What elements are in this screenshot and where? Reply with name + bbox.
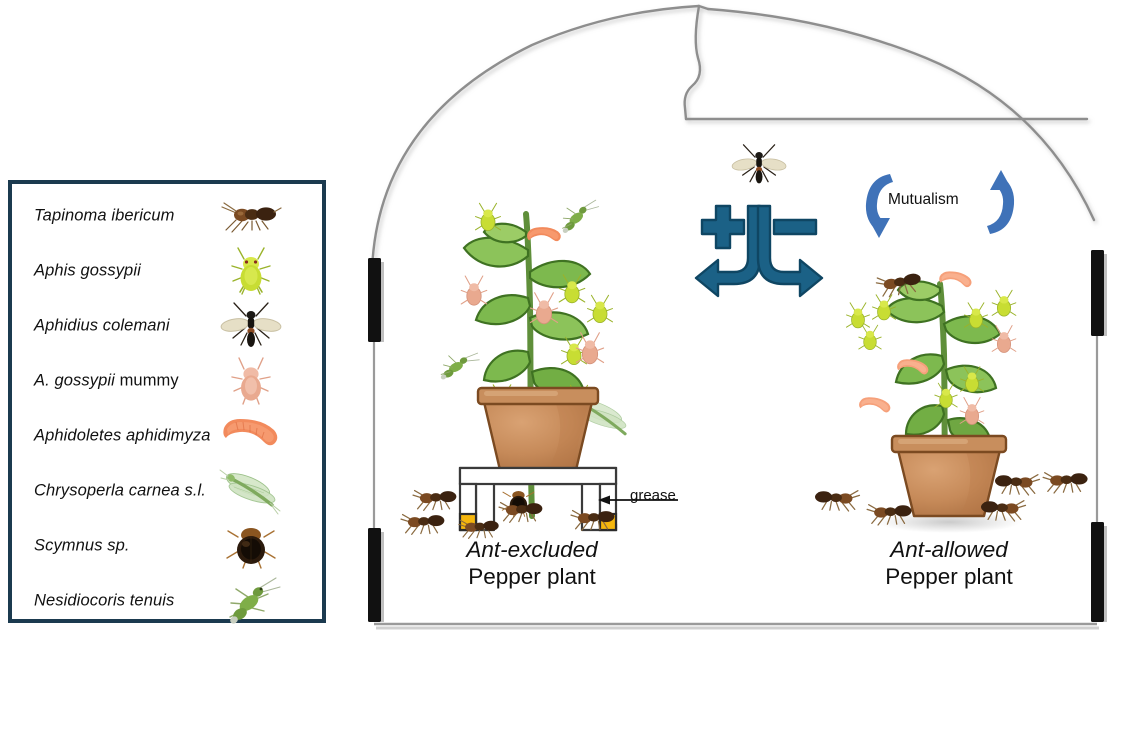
scymnus-beetle-icon	[218, 520, 284, 572]
ant-icon	[499, 503, 542, 523]
green-lacewing-icon	[218, 465, 284, 517]
plus-sign	[702, 206, 744, 248]
list-item: Aphidoletes aphidimyza	[12, 408, 322, 463]
grease-label: grease	[630, 487, 676, 504]
legend-item-label: Aphidius colemani	[34, 316, 170, 335]
mirid-bug-icon	[218, 575, 284, 627]
list-item: Chrysoperla carnea s.l.	[12, 463, 322, 518]
ant-icon	[1043, 473, 1087, 493]
gall-midge-larva-icon	[939, 271, 971, 287]
mirid-bug-icon	[562, 200, 599, 234]
ant-icon	[981, 501, 1025, 521]
aphid-icon	[218, 245, 284, 297]
aphid-mummy-icon	[218, 355, 284, 407]
ant-icon	[401, 515, 444, 535]
ant-icon	[218, 190, 284, 242]
parasitoid-wasp-icon	[218, 300, 284, 352]
legend-item-label: Aphis gossypii	[34, 261, 141, 280]
caption-ant-allowed: Ant-allowed Pepper plant	[799, 536, 1099, 591]
list-item: A. gossypii mummy	[12, 353, 322, 408]
ground-ants-right	[792, 460, 1102, 530]
caption-ant-excluded: Ant-excluded Pepper plant	[382, 536, 682, 591]
list-item: Scymnus sp.	[12, 518, 322, 573]
caption-line-2: Pepper plant	[799, 563, 1099, 590]
species-legend: Tapinoma ibericum	[8, 180, 326, 623]
ant-icon	[995, 475, 1039, 495]
figure-canvas: Tapinoma ibericum	[0, 0, 1146, 741]
gall-midge-larva-icon	[859, 397, 890, 412]
ant-icon	[413, 491, 456, 511]
legend-item-label: Nesidiocoris tenuis	[34, 591, 174, 610]
minus-sign	[774, 220, 816, 234]
caption-line-1: Ant-excluded	[382, 536, 682, 563]
list-item: Aphidius colemani	[12, 298, 322, 353]
legend-item-label: Scymnus sp.	[34, 536, 130, 555]
greenhouse-enclosure: grease Ant-excluded Pepper plant	[352, 0, 1134, 640]
list-item: Nesidiocoris tenuis	[12, 573, 322, 628]
parasitoid-wasp-icon	[731, 145, 787, 184]
legend-item-label: A. gossypii mummy	[34, 371, 179, 390]
mutualism-arrow-right	[987, 170, 1014, 234]
legend-item-label: Aphidoletes aphidimyza	[34, 426, 210, 445]
plus-minus-branching-arrows	[674, 142, 844, 322]
caption-line-2: Pepper plant	[382, 563, 682, 590]
ant-icon	[867, 505, 911, 525]
legend-item-label: Tapinoma ibericum	[34, 206, 175, 225]
gall-midge-larva-icon	[218, 410, 284, 462]
list-item: Tapinoma ibericum	[12, 188, 322, 243]
list-item: Aphis gossypii	[12, 243, 322, 298]
legend-item-label: Chrysoperla carnea s.l.	[34, 481, 206, 500]
mutualism-label: Mutualism	[888, 191, 959, 209]
ant-icon	[571, 511, 614, 531]
caption-line-1: Ant-allowed	[799, 536, 1099, 563]
ant-icon	[815, 491, 859, 511]
gall-midge-larva-icon	[526, 224, 561, 245]
